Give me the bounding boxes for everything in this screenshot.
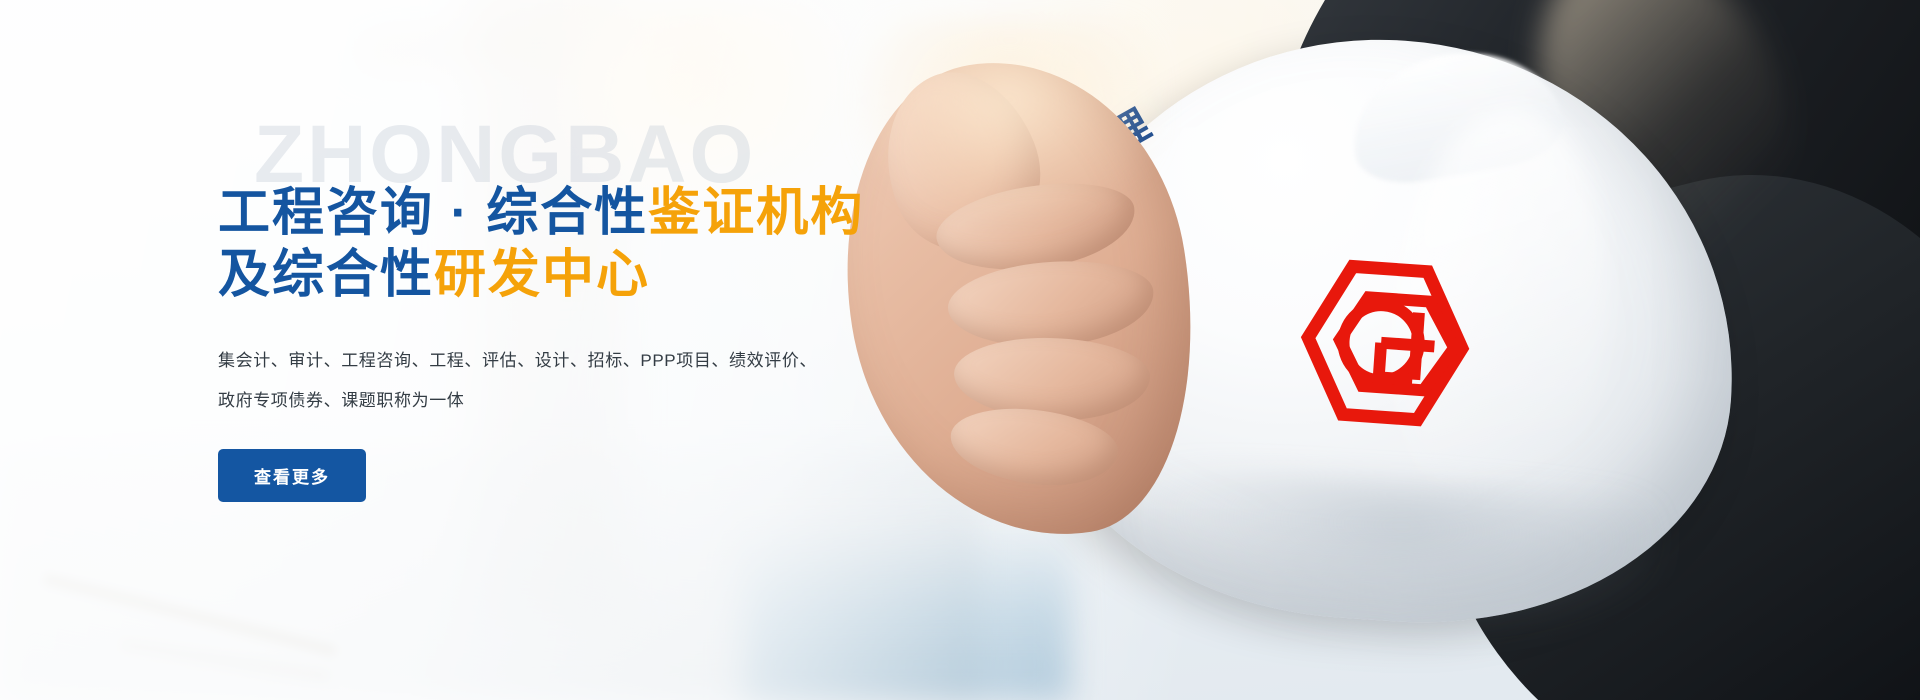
description-line-1: 集会计、审计、工程咨询、工程、评估、设计、招标、PPP项目、绩效评价、 xyxy=(218,341,978,381)
hero-description: 集会计、审计、工程咨询、工程、评估、设计、招标、PPP项目、绩效评价、 政府专项… xyxy=(218,341,978,421)
headline-line-1: 工程咨询 · 综合性鉴证机构 xyxy=(218,182,978,244)
hero-content: ZHONGBAO 工程咨询 · 综合性鉴证机构 及综合性研发中心 集会计、审计、… xyxy=(218,118,978,502)
headline-line-2: 及综合性研发中心 xyxy=(218,244,978,306)
headline-line-2-blue: 及综合性 xyxy=(218,246,434,304)
hero-banner: 中宝工程管理 ZHONGBAO xyxy=(0,0,1920,700)
headline-line-1-orange: 鉴证机构 xyxy=(648,184,864,242)
headline-line-2-orange: 研发中心 xyxy=(434,246,650,304)
headline-line-1-blue: 工程咨询 · 综合性 xyxy=(218,184,648,242)
hand-and-helmet-photo: 中宝工程管理 xyxy=(820,0,1920,700)
helmet-bottom-shadow xyxy=(1135,464,1664,650)
headline: 工程咨询 · 综合性鉴证机构 及综合性研发中心 xyxy=(218,182,978,307)
hexagon-monogram-logo xyxy=(1290,252,1479,434)
view-more-button[interactable]: 查看更多 xyxy=(218,449,366,502)
description-line-2: 政府专项债券、课题职称为一体 xyxy=(218,381,978,421)
